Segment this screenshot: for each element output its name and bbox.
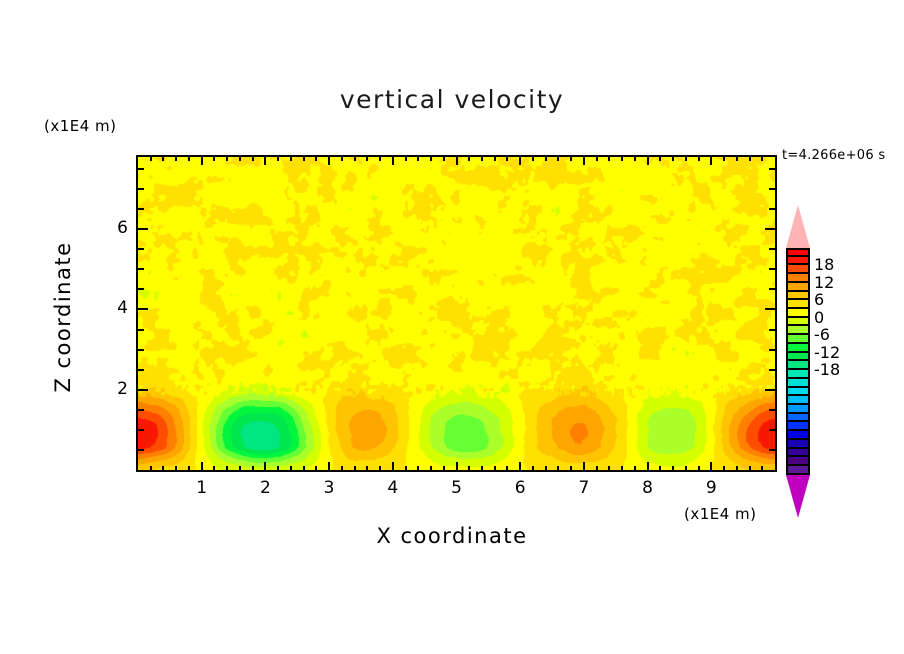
x-tick-minor-top	[417, 157, 419, 161]
colorbar-tick-label: -12	[814, 343, 840, 362]
colorbar-under-arrow	[786, 475, 810, 518]
colorbar-band	[786, 440, 810, 449]
x-tick-label: 6	[500, 478, 540, 498]
x-tick-minor	[150, 466, 152, 470]
x-tick-major-top	[392, 157, 394, 165]
colorbar-band	[786, 309, 810, 318]
x-axis-unit-label: (x1E4 m)	[684, 505, 757, 523]
x-tick-major	[710, 462, 712, 470]
x-tick-minor-top	[188, 157, 190, 161]
x-tick-minor	[341, 466, 343, 470]
y-tick-minor-right	[769, 188, 775, 190]
x-tick-minor	[698, 466, 700, 470]
x-tick-minor	[417, 466, 419, 470]
x-tick-minor	[532, 466, 534, 470]
colorbar-tick-label: -6	[814, 325, 830, 344]
y-tick-minor	[138, 168, 144, 170]
colorbar-tick-label: 12	[814, 273, 834, 292]
colorbar-band	[786, 379, 810, 388]
y-tick-minor-right	[769, 268, 775, 270]
y-tick-minor-right	[769, 168, 775, 170]
colorbar-band	[786, 353, 810, 362]
y-tick-minor-right	[769, 429, 775, 431]
x-tick-minor-top	[315, 157, 317, 161]
x-tick-major	[456, 462, 458, 470]
x-tick-minor-top	[366, 157, 368, 161]
x-tick-minor	[659, 466, 661, 470]
y-tick-minor	[138, 349, 144, 351]
colorbar-over-arrow	[786, 205, 810, 248]
x-tick-minor-top	[736, 157, 738, 161]
x-tick-label: 2	[245, 478, 285, 498]
x-tick-minor	[354, 466, 356, 470]
x-tick-minor-top	[481, 157, 483, 161]
colorbar-band	[786, 396, 810, 405]
x-tick-minor	[226, 466, 228, 470]
x-tick-minor-top	[150, 157, 152, 161]
x-tick-minor	[443, 466, 445, 470]
contour-plot-area	[136, 155, 777, 472]
colorbar-band	[786, 388, 810, 397]
page-title: vertical velocity	[0, 85, 904, 114]
colorbar-band	[786, 422, 810, 431]
x-tick-minor	[379, 466, 381, 470]
y-tick-minor	[138, 329, 144, 331]
x-tick-minor-top	[685, 157, 687, 161]
x-tick-minor	[557, 466, 559, 470]
y-tick-minor-right	[769, 349, 775, 351]
y-tick-major	[138, 389, 148, 391]
colorbar-tick-label: 18	[814, 255, 834, 274]
x-tick-minor	[685, 466, 687, 470]
x-tick-minor-top	[532, 157, 534, 161]
x-tick-minor	[506, 466, 508, 470]
colorbar-tick-label: 0	[814, 308, 824, 327]
colorbar-bands	[786, 248, 810, 475]
x-tick-minor	[239, 466, 241, 470]
x-tick-minor-top	[596, 157, 598, 161]
x-tick-minor-top	[634, 157, 636, 161]
x-tick-minor	[761, 466, 763, 470]
x-tick-label: 7	[564, 478, 604, 498]
x-tick-label: 3	[309, 478, 349, 498]
x-tick-minor	[252, 466, 254, 470]
y-tick-major	[138, 308, 148, 310]
time-stamp-annotation: t=4.266e+06 s	[782, 148, 885, 163]
x-tick-minor-top	[379, 157, 381, 161]
colorbar-tick-label: -18	[814, 360, 840, 379]
x-tick-minor	[405, 466, 407, 470]
colorbar-band	[786, 274, 810, 283]
y-tick-major	[138, 228, 148, 230]
x-tick-minor-top	[443, 157, 445, 161]
x-tick-label: 9	[691, 478, 731, 498]
x-tick-minor	[315, 466, 317, 470]
x-tick-minor-top	[430, 157, 432, 161]
x-tick-minor-top	[723, 157, 725, 161]
x-tick-minor	[570, 466, 572, 470]
x-tick-minor	[175, 466, 177, 470]
y-tick-label: 2	[88, 379, 128, 399]
x-tick-major	[647, 462, 649, 470]
x-tick-minor-top	[570, 157, 572, 161]
y-tick-minor	[138, 248, 144, 250]
y-tick-minor	[138, 449, 144, 451]
colorbar-band	[786, 457, 810, 466]
colorbar-band	[786, 300, 810, 309]
y-tick-minor-right	[769, 329, 775, 331]
colorbar-band	[786, 318, 810, 327]
x-tick-minor-top	[354, 157, 356, 161]
x-tick-minor-top	[175, 157, 177, 161]
y-tick-major-right	[765, 308, 775, 310]
x-tick-minor	[290, 466, 292, 470]
colorbar-band	[786, 405, 810, 414]
y-tick-minor	[138, 208, 144, 210]
y-tick-minor-right	[769, 248, 775, 250]
colorbar-band	[786, 283, 810, 292]
x-tick-minor-top	[468, 157, 470, 161]
x-tick-minor	[303, 466, 305, 470]
x-tick-major-top	[647, 157, 649, 165]
x-tick-major-top	[201, 157, 203, 165]
x-tick-minor-top	[226, 157, 228, 161]
colorbar-band	[786, 449, 810, 458]
x-axis-title: X coordinate	[0, 524, 904, 548]
colorbar-band	[786, 257, 810, 266]
x-tick-minor	[672, 466, 674, 470]
y-tick-major-right	[765, 389, 775, 391]
x-tick-minor	[545, 466, 547, 470]
x-tick-minor-top	[672, 157, 674, 161]
colorbar-band	[786, 431, 810, 440]
colorbar-band	[786, 292, 810, 301]
x-tick-minor-top	[506, 157, 508, 161]
x-tick-minor	[723, 466, 725, 470]
x-tick-minor	[596, 466, 598, 470]
colorbar-band	[786, 414, 810, 423]
x-tick-label: 1	[182, 478, 222, 498]
x-tick-minor	[749, 466, 751, 470]
y-tick-minor	[138, 409, 144, 411]
x-tick-minor	[213, 466, 215, 470]
x-tick-minor-top	[213, 157, 215, 161]
x-tick-minor-top	[659, 157, 661, 161]
colorbar-band	[786, 248, 810, 257]
colorbar-band	[786, 335, 810, 344]
x-tick-major	[201, 462, 203, 470]
x-tick-minor-top	[761, 157, 763, 161]
colorbar-tick-labels: 181260-6-12-18	[812, 205, 872, 518]
x-tick-minor	[188, 466, 190, 470]
x-tick-minor-top	[341, 157, 343, 161]
x-tick-label: 4	[373, 478, 413, 498]
y-tick-label: 4	[88, 298, 128, 318]
x-tick-major	[583, 462, 585, 470]
colorbar-band	[786, 466, 810, 475]
x-tick-minor-top	[749, 157, 751, 161]
x-tick-major	[519, 462, 521, 470]
x-tick-minor-top	[252, 157, 254, 161]
x-tick-major-top	[264, 157, 266, 165]
y-axis-title: Z coordinate	[51, 192, 75, 442]
x-tick-minor	[162, 466, 164, 470]
y-tick-minor	[138, 288, 144, 290]
vertical-velocity-contour-field	[138, 157, 775, 470]
y-tick-minor	[138, 429, 144, 431]
x-tick-major-top	[583, 157, 585, 165]
y-tick-minor	[138, 369, 144, 371]
x-tick-minor-top	[494, 157, 496, 161]
colorbar-band	[786, 265, 810, 274]
x-tick-minor	[494, 466, 496, 470]
x-tick-minor-top	[608, 157, 610, 161]
colorbar: 181260-6-12-18	[786, 205, 810, 518]
y-axis-unit-label: (x1E4 m)	[44, 117, 117, 135]
y-tick-minor-right	[769, 449, 775, 451]
x-tick-major-top	[710, 157, 712, 165]
x-tick-minor	[736, 466, 738, 470]
x-tick-minor	[366, 466, 368, 470]
colorbar-band	[786, 326, 810, 335]
y-tick-label: 6	[88, 218, 128, 238]
x-tick-minor-top	[290, 157, 292, 161]
colorbar-band	[786, 370, 810, 379]
x-tick-minor	[277, 466, 279, 470]
x-tick-major-top	[456, 157, 458, 165]
x-tick-label: 8	[628, 478, 668, 498]
x-tick-minor	[481, 466, 483, 470]
x-tick-major-top	[519, 157, 521, 165]
x-tick-minor-top	[405, 157, 407, 161]
x-tick-minor	[468, 466, 470, 470]
x-tick-minor	[621, 466, 623, 470]
x-tick-major	[264, 462, 266, 470]
x-tick-minor-top	[557, 157, 559, 161]
y-tick-minor	[138, 188, 144, 190]
x-tick-major-top	[328, 157, 330, 165]
x-tick-minor-top	[303, 157, 305, 161]
x-tick-minor-top	[545, 157, 547, 161]
y-tick-minor	[138, 268, 144, 270]
x-tick-major	[328, 462, 330, 470]
figure-canvas: vertical velocity (x1E4 m) t=4.266e+06 s…	[0, 0, 904, 654]
colorbar-tick-label: 6	[814, 290, 824, 309]
y-tick-major-right	[765, 228, 775, 230]
x-tick-minor-top	[621, 157, 623, 161]
colorbar-band	[786, 344, 810, 353]
x-tick-minor	[608, 466, 610, 470]
y-tick-minor-right	[769, 288, 775, 290]
y-tick-minor-right	[769, 409, 775, 411]
colorbar-band	[786, 361, 810, 370]
y-tick-minor-right	[769, 369, 775, 371]
y-tick-minor-right	[769, 208, 775, 210]
x-tick-minor-top	[277, 157, 279, 161]
x-tick-minor-top	[162, 157, 164, 161]
x-tick-minor	[634, 466, 636, 470]
x-tick-minor	[430, 466, 432, 470]
x-tick-minor-top	[698, 157, 700, 161]
x-tick-label: 5	[437, 478, 477, 498]
x-tick-minor-top	[239, 157, 241, 161]
x-tick-major	[392, 462, 394, 470]
